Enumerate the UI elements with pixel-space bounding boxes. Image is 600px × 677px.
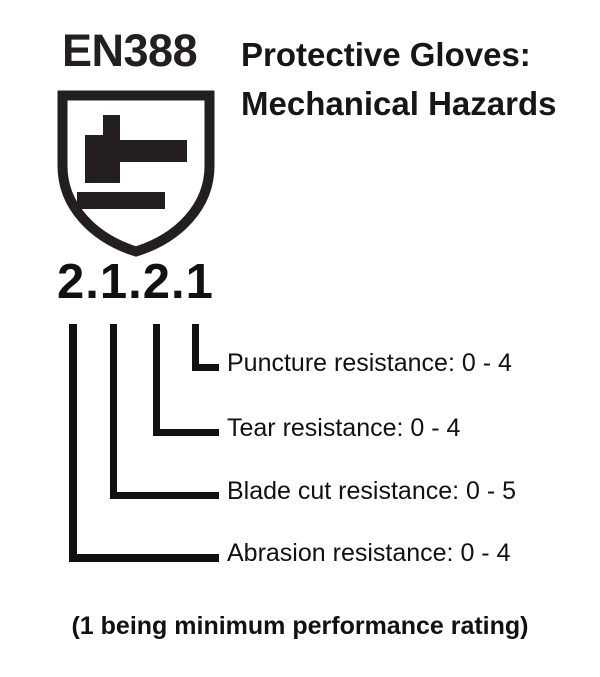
en388-pictogram-diagram: EN388 Protective Gloves: Mechanical Haza… xyxy=(0,0,600,677)
title-line-1: Protective Gloves: xyxy=(241,30,593,79)
leader-vertical-abrasion xyxy=(69,324,77,562)
title-line-2: Mechanical Hazards xyxy=(241,79,593,128)
leader-vertical-tear xyxy=(153,324,160,436)
hammer-head xyxy=(85,135,120,183)
standard-code: EN388 xyxy=(62,28,222,73)
shield-icon-svg xyxy=(55,88,217,260)
performance-rating-value: 2.1.2.1 xyxy=(57,258,227,307)
leader-vertical-blade-cut xyxy=(110,324,117,499)
hammer-neck xyxy=(103,115,120,137)
leader-horizontal-tear xyxy=(153,429,219,436)
leader-horizontal-blade-cut xyxy=(110,492,219,499)
leader-horizontal-puncture xyxy=(192,364,219,371)
property-label-puncture-resistance: Puncture resistance: 0 - 4 xyxy=(227,351,512,376)
leader-horizontal-abrasion xyxy=(69,554,219,562)
diagram-title: Protective Gloves: Mechanical Hazards xyxy=(241,30,593,128)
shield-outline xyxy=(63,96,210,252)
mechanical-hazard-shield-icon xyxy=(55,88,217,260)
footnote: (1 being minimum performance rating) xyxy=(0,614,600,639)
property-label-blade-cut-resistance: Blade cut resistance: 0 - 5 xyxy=(227,479,516,504)
leader-vertical-puncture xyxy=(192,324,199,371)
property-label-abrasion-resistance: Abrasion resistance: 0 - 4 xyxy=(227,541,510,566)
struck-bar xyxy=(77,192,165,209)
hammer-handle xyxy=(120,140,187,162)
property-label-tear-resistance: Tear resistance: 0 - 4 xyxy=(227,416,460,441)
